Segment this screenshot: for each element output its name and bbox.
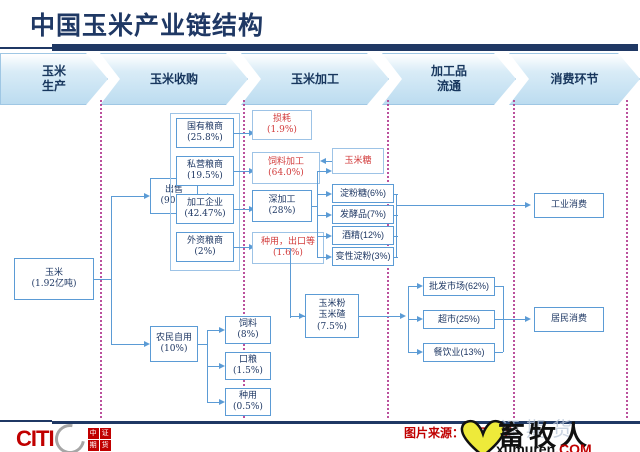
- chevron-label: 玉米 生产: [42, 64, 66, 94]
- node-industrial-consumption[interactable]: 工业消费: [534, 193, 604, 218]
- link-catering-merge: [495, 352, 503, 353]
- citic-logo: CITI 中 证 期 货: [16, 424, 111, 452]
- node-alcohol[interactable]: 酒精(12%): [332, 226, 394, 245]
- node-farmer-own[interactable]: 农民自用 (10%): [150, 326, 198, 362]
- link-cornsugar-feedproc: [326, 161, 332, 162]
- spine-products-merge: [396, 194, 397, 257]
- logo-square-4: 货: [100, 440, 111, 451]
- source-note: 图片来源：中证期货: [404, 424, 512, 441]
- link-ferment-merge: [394, 215, 398, 216]
- page-title: 中国玉米产业链结构: [30, 6, 264, 42]
- link-cornflour-channels: [359, 316, 403, 317]
- title-rule: [52, 44, 638, 51]
- arrow-to-corn-flour: [299, 313, 305, 319]
- node-catering[interactable]: 餐饮业(13%): [423, 343, 495, 362]
- link-wholesale-merge: [495, 286, 503, 287]
- node-supermarket[interactable]: 超市(25%): [423, 310, 495, 329]
- link-corntotal-spine: [94, 279, 112, 280]
- node-feed-processing[interactable]: 饲料加工 (64.0%): [252, 152, 320, 184]
- footer-rule-left: [0, 420, 52, 422]
- node-loss[interactable]: 损耗 (1.9%): [252, 110, 312, 140]
- chevron-label: 加工品 流通: [431, 64, 467, 94]
- link-merge-industrial: [396, 205, 528, 206]
- logo-square-2: 证: [100, 428, 111, 439]
- link-alcohol-merge: [394, 236, 398, 237]
- node-seed-own[interactable]: 种用 (0.5%): [225, 388, 271, 416]
- arrow-to-channels: [400, 313, 406, 319]
- arrow-to-resident-consumption: [525, 316, 531, 322]
- link-modstarch-merge: [394, 257, 398, 258]
- node-processing-enterprise[interactable]: 加工企业 (42.47%): [176, 194, 234, 224]
- logo-wordmark: CITI: [16, 426, 54, 452]
- spine-corn-split: [111, 196, 112, 344]
- logo-square-1: 中: [88, 428, 99, 439]
- node-modified-starch[interactable]: 变性淀粉(3%): [332, 247, 394, 266]
- node-wholesale-market[interactable]: 批发市场(62%): [423, 277, 495, 296]
- node-foreign-grain-trader[interactable]: 外资粮商 (2%): [176, 232, 234, 262]
- node-ferment-product[interactable]: 发酵品(7%): [332, 205, 394, 224]
- node-corn-sugar[interactable]: 玉米糖: [332, 148, 384, 174]
- slide-canvas: 中国玉米产业链结构 玉米 生产 玉米收购 玉米加工 加工品 流通 消费环节 玉米…: [0, 0, 640, 452]
- link-spine-farmerown: [111, 344, 147, 345]
- title-rule-left: [0, 47, 52, 49]
- spine-deep-products: [317, 171, 318, 257]
- arrow-to-corn-sugar: [326, 168, 332, 174]
- column-separator-4: [513, 100, 515, 418]
- node-private-grain-trader[interactable]: 私营粮商 (19.5%): [176, 156, 234, 186]
- column-separator-5: [626, 100, 628, 418]
- node-deep-processing[interactable]: 深加工 (28%): [252, 190, 312, 222]
- chevron-stage-production[interactable]: 玉米 生产: [0, 53, 108, 105]
- link-spine-sale: [111, 196, 147, 197]
- chevron-label: 消费环节: [550, 72, 598, 87]
- logo-swirl-icon: [49, 418, 91, 452]
- link-seedexport-cornflour: [275, 248, 290, 249]
- logo-square-3: 期: [88, 440, 99, 451]
- node-corn-total[interactable]: 玉米 (1.92亿吨): [14, 258, 94, 300]
- node-corn-flour[interactable]: 玉米粉 玉米碴 (7.5%): [305, 294, 359, 338]
- chevron-label: 玉米收购: [150, 72, 198, 87]
- node-food-own[interactable]: 口粮 (1.5%): [225, 352, 271, 380]
- watermark-domain-tld: .COM: [555, 441, 592, 452]
- column-separator-1: [100, 100, 102, 418]
- chevron-stage-processing[interactable]: 玉米加工: [241, 53, 389, 105]
- link-supermarket-merge: [495, 319, 503, 320]
- arrow-to-industrial-consumption: [525, 202, 531, 208]
- link-starch-merge: [394, 194, 398, 195]
- node-resident-consumption[interactable]: 居民消费: [534, 307, 604, 332]
- spine-to-corn-flour: [290, 248, 291, 318]
- chevron-label: 玉米加工: [291, 72, 339, 87]
- chevron-stage-distribution[interactable]: 加工品 流通: [382, 53, 516, 105]
- logo-chinese-squares: 中 证 期 货: [88, 428, 111, 451]
- stage-chevron-band: 玉米 生产 玉米收购 玉米加工 加工品 流通 消费环节: [0, 53, 640, 105]
- node-feed-own[interactable]: 饲料 (8%): [225, 316, 271, 344]
- chevron-stage-consumption[interactable]: 消费环节: [509, 53, 640, 105]
- node-state-grain-trader[interactable]: 国有粮商 (25.8%): [176, 118, 234, 148]
- arrow-to-feed-processing-back: [320, 158, 326, 164]
- node-starch-sugar[interactable]: 淀粉糖(6%): [332, 184, 394, 203]
- chevron-stage-purchase[interactable]: 玉米收购: [100, 53, 248, 105]
- watermark-domain: xumuren.COM: [496, 441, 592, 452]
- footer-rule: [52, 421, 640, 424]
- watermark-domain-name: xumuren: [496, 441, 555, 452]
